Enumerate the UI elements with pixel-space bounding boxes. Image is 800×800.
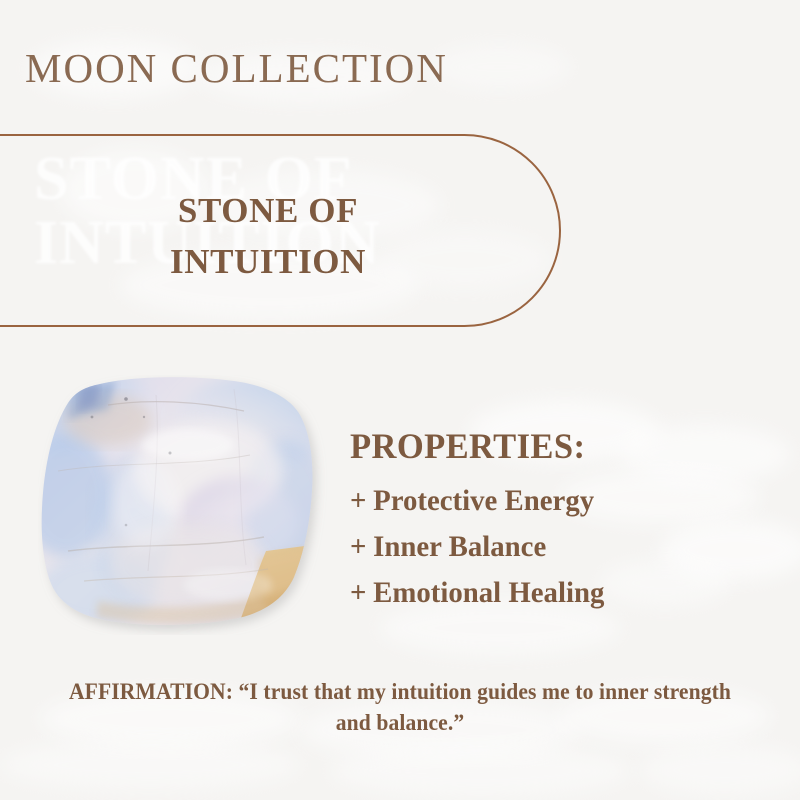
properties-section: PROPERTIES: +Protective Energy +Inner Ba… <box>350 428 615 624</box>
page-title: MOON COLLECTION <box>25 48 448 89</box>
property-label: Emotional Healing <box>373 576 604 609</box>
moonstone-image <box>38 375 328 635</box>
properties-heading: PROPERTIES: <box>350 428 604 464</box>
plus-icon: + <box>350 576 366 609</box>
banner-heading: STONE OF INTUITION <box>0 186 536 288</box>
affirmation-text: AFFIRMATION: “I trust that my intuition … <box>52 676 748 738</box>
property-item: +Protective Energy <box>350 486 604 516</box>
plus-icon: + <box>350 530 366 563</box>
property-label: Protective Energy <box>373 484 594 517</box>
crystal-info-card: MOON COLLECTION STONE OF INTUITION STONE… <box>0 0 800 800</box>
property-item: +Emotional Healing <box>350 578 604 608</box>
property-label: Inner Balance <box>373 530 546 563</box>
property-item: +Inner Balance <box>350 532 604 562</box>
plus-icon: + <box>350 484 366 517</box>
